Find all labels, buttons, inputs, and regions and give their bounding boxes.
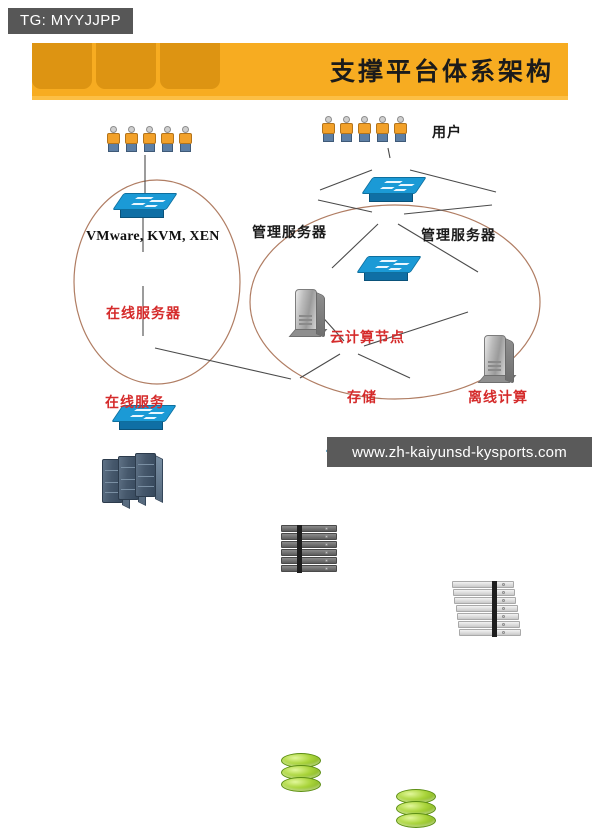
tower-body: [484, 335, 506, 377]
user-legs-icon: [180, 144, 191, 152]
tower-body: [295, 289, 317, 331]
cloud-node-label: 云计算节点: [330, 327, 405, 347]
tower-slot: [488, 361, 501, 363]
switch-front-face: [119, 421, 163, 430]
user-group-left: [107, 126, 192, 152]
user-figure: [161, 126, 174, 152]
user-legs-icon: [108, 144, 119, 152]
user-body-icon: [376, 123, 389, 134]
rack-status-led: [502, 599, 505, 602]
online-service-label: 在线服务: [105, 392, 165, 412]
rack-dark: [281, 525, 349, 579]
switch-arrows-icon: [366, 259, 418, 272]
user-head-icon: [182, 126, 189, 133]
switch-top-face: [361, 177, 426, 194]
cabinet-side-panel: [155, 455, 163, 503]
database-disc: [281, 777, 321, 792]
rack-status-led: [325, 559, 328, 562]
mgmt-server-right-label: 管理服务器: [421, 225, 496, 245]
rack-blade: [453, 589, 515, 596]
user-body-icon: [179, 133, 192, 144]
link-switch-cloud-node-to-database-storage: [300, 354, 340, 378]
rack-status-led: [325, 535, 328, 538]
user-head-icon: [128, 126, 135, 133]
page-title: 支撑平台体系架构: [330, 52, 554, 88]
switch-front-face: [120, 209, 164, 218]
rack-status-led: [502, 631, 505, 634]
mgmt-server-left-label: 管理服务器: [252, 222, 327, 242]
switch-top-face: [112, 193, 177, 210]
cabinet-vent-line: [138, 476, 154, 477]
database-offline: [396, 789, 436, 828]
rack-blade: [458, 621, 520, 628]
switch-core-right[interactable]: [367, 177, 600, 202]
users-label: 用户: [432, 122, 462, 142]
user-head-icon: [343, 116, 350, 123]
rack-blade: [281, 525, 337, 532]
user-head-icon: [397, 116, 404, 123]
banner-block-1: [32, 43, 92, 89]
user-body-icon: [322, 123, 335, 134]
tower-slot: [299, 323, 312, 325]
tower-slot: [299, 315, 312, 317]
user-group-right: [322, 116, 407, 142]
banner-block-2: [96, 43, 156, 89]
user-legs-icon: [359, 134, 370, 142]
tower-side-panel: [505, 338, 514, 384]
user-figure: [107, 126, 120, 152]
user-figure: [340, 116, 353, 142]
banner-block-3: [160, 43, 220, 89]
user-body-icon: [107, 133, 120, 144]
tower-slot: [299, 319, 312, 321]
link-user-group-right-to-switch-core-right: [388, 148, 390, 158]
slide-canvas: TG: MYYJJPP 支撑平台体系架构 用户VMware, KVM, XEN在…: [0, 0, 600, 480]
rack-blade: [281, 549, 337, 556]
switch-mgmt[interactable]: [362, 256, 600, 281]
user-figure: [358, 116, 371, 142]
tower-server-left: [295, 289, 600, 331]
user-body-icon: [125, 133, 138, 144]
cabinet-group: [102, 453, 168, 509]
user-figure: [125, 126, 138, 152]
rack-spine: [297, 525, 302, 573]
tg-badge: TG: MYYJJPP: [8, 8, 133, 34]
user-head-icon: [325, 116, 332, 123]
rack-status-led: [502, 623, 505, 626]
cabinet-vent-line: [138, 464, 154, 465]
database-disc: [396, 813, 436, 828]
user-body-icon: [358, 123, 371, 134]
storage-label: 存储: [347, 387, 377, 407]
rack-status-led: [502, 615, 505, 618]
rack-status-led: [325, 527, 328, 530]
link-switch-core-right-to-tower-server-left: [320, 170, 372, 190]
rack-blade: [459, 629, 521, 636]
rack-status-led: [325, 543, 328, 546]
user-legs-icon: [377, 134, 388, 142]
rack-spine: [492, 581, 497, 637]
header-banner: 支撑平台体系架构: [32, 43, 568, 96]
rack-blade: [457, 613, 519, 620]
rack-status-led: [325, 567, 328, 570]
switch-front-face: [364, 272, 408, 281]
rack-blade: [281, 557, 337, 564]
banner-decor-blocks: [32, 43, 220, 89]
rack-blade: [454, 597, 516, 604]
switch-arrows-icon: [122, 196, 174, 209]
user-head-icon: [379, 116, 386, 123]
rack-status-led: [502, 607, 505, 610]
offline-compute-label: 离线计算: [468, 387, 528, 407]
user-figure: [376, 116, 389, 142]
user-figure: [143, 126, 156, 152]
banner-underline: [32, 96, 568, 100]
rack-status-led: [325, 551, 328, 554]
switch-online-out[interactable]: [117, 405, 600, 430]
database-storage: [281, 753, 321, 792]
user-body-icon: [161, 133, 174, 144]
user-head-icon: [110, 126, 117, 133]
user-head-icon: [164, 126, 171, 133]
cabinet-face: [135, 453, 156, 497]
user-body-icon: [143, 133, 156, 144]
link-switch-cloud-node-to-database-offline: [358, 354, 410, 378]
switch-arrows-icon: [371, 180, 423, 193]
hypervisor-label: VMware, KVM, XEN: [86, 229, 220, 245]
user-figure: [322, 116, 335, 142]
rack-blade: [281, 565, 337, 572]
rack-light: [452, 581, 526, 643]
user-figure: [394, 116, 407, 142]
user-figure: [179, 126, 192, 152]
online-server-label: 在线服务器: [106, 303, 181, 323]
user-legs-icon: [126, 144, 137, 152]
rack-blade: [281, 533, 337, 540]
user-legs-icon: [341, 134, 352, 142]
tower-slot: [488, 369, 501, 371]
watermark: www.zh-kaiyunsd-kysports.com: [327, 437, 592, 467]
rack-status-led: [502, 583, 505, 586]
tower-side-panel: [316, 292, 325, 338]
user-head-icon: [361, 116, 368, 123]
tower-slot: [488, 365, 501, 367]
user-head-icon: [146, 126, 153, 133]
rack-blade: [281, 541, 337, 548]
user-legs-icon: [162, 144, 173, 152]
user-body-icon: [340, 123, 353, 134]
cabinet-vent-line: [138, 486, 154, 487]
rack-blade: [456, 605, 518, 612]
switch-front-face: [369, 193, 413, 202]
rack-status-led: [502, 591, 505, 594]
user-legs-icon: [323, 134, 334, 142]
user-legs-icon: [395, 134, 406, 142]
user-legs-icon: [144, 144, 155, 152]
user-body-icon: [394, 123, 407, 134]
tower-server-right: [484, 335, 600, 377]
switch-top-face: [356, 256, 421, 273]
